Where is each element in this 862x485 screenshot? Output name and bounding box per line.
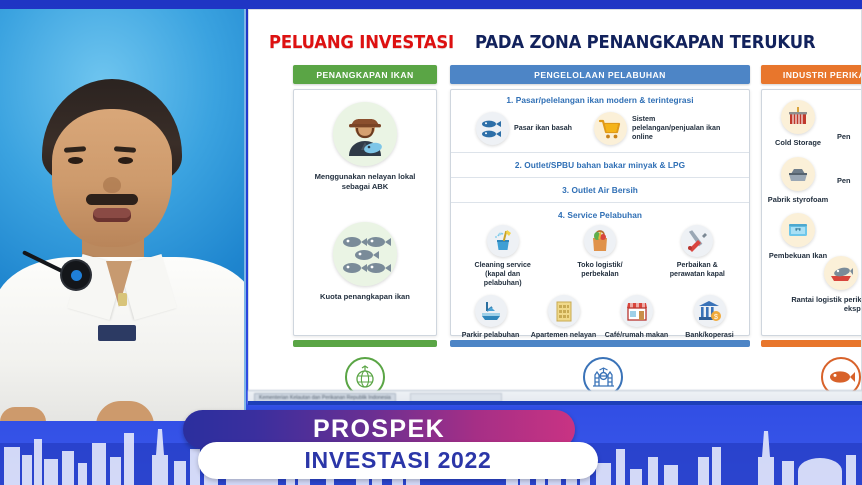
column-body-penangkapan-ikan: Menggunakan nelayan lokal sebagai ABK (293, 89, 437, 336)
investasi-banner: INVESTASI 2022 (198, 442, 598, 479)
screen: PELUANG INVESTASI PADA ZONA PENANGKAPAN … (0, 0, 862, 485)
two-fish-icon (476, 112, 509, 145)
section-title: 3. Outlet Air Bersih (451, 178, 749, 202)
freezer-icon (781, 213, 815, 247)
slide-title-rest: PADA ZONA PENANGKAPAN TERUKUR (475, 33, 815, 53)
column-industri-perikanan: INDUSTRI PERIKANAN (761, 65, 862, 347)
microphone-icon (62, 261, 90, 289)
cleaning-bucket-icon (487, 225, 519, 257)
item-label: Apartemen nelayan (529, 331, 599, 340)
parking-boat-icon (475, 295, 507, 327)
item-label: Café/rumah makan (602, 331, 672, 340)
lapel-pin (118, 293, 127, 306)
column-header-pengelolaan-pelabuhan: PENGELOLAAN PELABUHAN (450, 65, 750, 84)
item-perbaikan-kapal: Perbaikan & perawatan kapal (662, 225, 732, 289)
speaker-moustache (86, 194, 138, 205)
item-cold-storage: Cold Storage (762, 100, 834, 148)
section-outlet-air-bersih: 3. Outlet Air Bersih (451, 178, 749, 203)
item-apartemen-nelayan: Apartemen nelayan (529, 295, 599, 340)
shopping-cart-icon (594, 112, 627, 145)
column-footer-penangkapan-ikan (293, 340, 437, 347)
section-outlet-spbu: 2. Outlet/SPBU bahan bakar minyak & LPG (451, 153, 749, 178)
svg-text:$: $ (714, 314, 718, 321)
item-label: Cleaning service (kapal dan pelabuhan) (468, 261, 538, 289)
speaker-hand-left (0, 407, 46, 421)
item-label: Kuota penangkapan ikan (294, 292, 436, 302)
item-partial-2: Pen (834, 176, 862, 186)
item-partial-1: Pen (834, 132, 862, 142)
name-badge (98, 325, 136, 341)
section-pasar-pelelangan: 1. Pasar/pelelangan ikan modern & terint… (451, 90, 749, 153)
item-label: Sistem pelelangan/penjualan ikan online (632, 115, 724, 143)
speaker-video-feed (0, 9, 246, 421)
column-footer-industri-perikanan (761, 340, 862, 347)
slide-title: PELUANG INVESTASI PADA ZONA PENANGKAPAN … (269, 30, 849, 56)
prospek-label: PROSPEK (313, 415, 445, 444)
service-row-1: Cleaning service (kapal dan pelabuhan) (451, 222, 749, 295)
item-parkir-pelabuhan: Parkir pelabuhan (456, 295, 526, 340)
item-cafe-rumah-makan: Café/rumah makan (602, 295, 672, 340)
item-label: Rantai logistik perikanan domestik & eks… (776, 295, 862, 314)
service-row-2: Parkir pelabuhan (451, 295, 749, 346)
section-title: 1. Pasar/pelelangan ikan modern & terint… (451, 90, 749, 110)
item-label: Pasar ikan basah (514, 124, 572, 133)
cold-storage-icon (781, 100, 815, 134)
investasi-label: INVESTASI 2022 (304, 447, 491, 474)
speaker-mouth (93, 208, 131, 222)
taskbar-edge (248, 401, 862, 405)
grocery-bag-icon (584, 225, 616, 257)
column-penangkapan-ikan: PENANGKAPAN IKAN (293, 65, 437, 347)
item-nelayan-lokal: Menggunakan nelayan lokal sebagai ABK (294, 90, 436, 192)
item-label: Bank/koperasi (675, 331, 745, 340)
item-label-partial: Pen (834, 132, 862, 142)
item-label: Cold Storage (762, 138, 834, 148)
item-label-partial: Pen (834, 176, 862, 186)
logistics-boat-icon (824, 256, 858, 290)
column-header-industri-perikanan: INDUSTRI PERIKANAN (761, 65, 862, 84)
fish-school-icon (333, 222, 397, 286)
column-pengelolaan-pelabuhan: PENGELOLAAN PELABUHAN 1. Pasar/pelelanga… (450, 65, 750, 347)
item-label: Parkir pelabuhan (456, 331, 526, 340)
section-title: 2. Outlet/SPBU bahan bakar minyak & LPG (451, 153, 749, 177)
item-cleaning-service: Cleaning service (kapal dan pelabuhan) (468, 225, 538, 289)
item-label: Perbaikan & perawatan kapal (662, 261, 732, 279)
section-service-pelabuhan: 4. Service Pelabuhan (451, 203, 749, 346)
column-header-penangkapan-ikan: PENANGKAPAN IKAN (293, 65, 437, 84)
slide-title-highlight: PELUANG INVESTASI (269, 33, 454, 53)
section-title: 4. Service Pelabuhan (451, 203, 749, 222)
item-label: Menggunakan nelayan lokal sebagai ABK (294, 172, 436, 192)
item-bank-koperasi: $ Bank/koperasi (675, 295, 745, 340)
item-label: Pabrik styrofoam (762, 195, 834, 205)
item-pelelangan-online: Sistem pelelangan/penjualan ikan online (594, 112, 724, 145)
item-rantai-logistik: Rantai logistik perikanan domestik & eks… (776, 256, 862, 314)
column-body-industri-perikanan: Cold Storage (761, 89, 862, 336)
item-toko-logistik: Toko logistik/ perbekalan (565, 225, 635, 289)
speaker-nose (103, 177, 121, 193)
bank-icon: $ (694, 295, 726, 327)
storefront-icon (621, 295, 653, 327)
shared-slide: PELUANG INVESTASI PADA ZONA PENANGKAPAN … (248, 9, 862, 401)
item-pembekuan-ikan: Pembekuan Ikan (762, 213, 834, 261)
tools-icon (681, 225, 713, 257)
slide-columns: PENANGKAPAN IKAN (293, 65, 853, 365)
item-label: Toko logistik/ perbekalan (565, 261, 635, 279)
styrofoam-icon (781, 157, 815, 191)
item-pabrik-styrofoam: Pabrik styrofoam (762, 157, 834, 205)
speaker-eye-left (68, 157, 83, 164)
apartment-icon (548, 295, 580, 327)
column-body-pengelolaan-pelabuhan: 1. Pasar/pelelangan ikan modern & terint… (450, 89, 750, 336)
item-kuota-penangkapan: Kuota penangkapan ikan (294, 192, 436, 302)
fisherman-icon (333, 102, 397, 166)
speaker-eye-right (118, 157, 133, 164)
item-pasar-ikan-basah: Pasar ikan basah (476, 112, 572, 145)
